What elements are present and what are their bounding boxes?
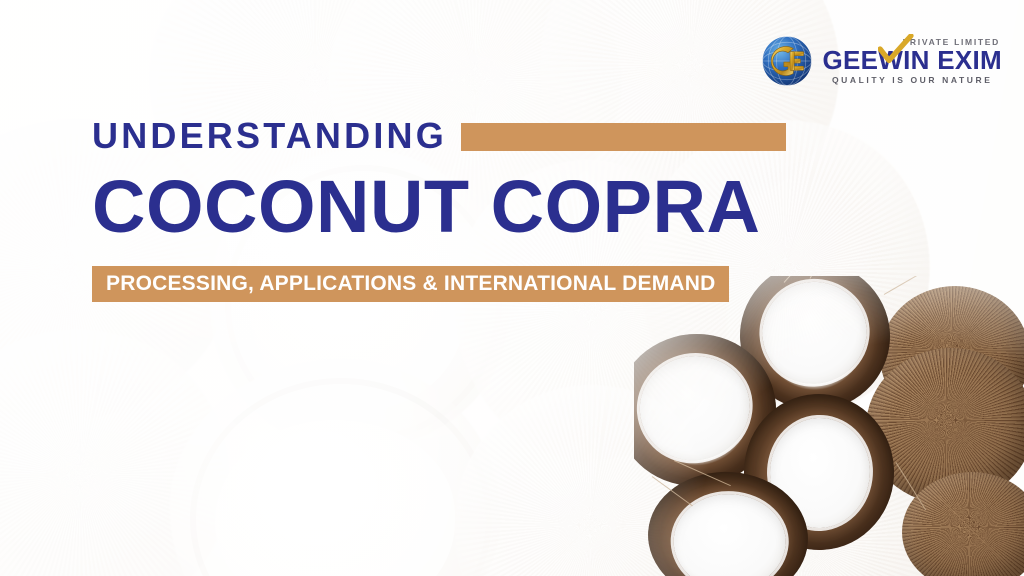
company-logo[interactable]: PRIVATE LIMITED GEEWIN EXIM QUALITY IS O… — [761, 35, 1002, 87]
logo-tagline-bottom: QUALITY IS OUR NATURE — [822, 76, 1002, 85]
logo-company-name-text: GEEWIN EXIM — [822, 45, 1002, 75]
foreground-coconut-cluster — [634, 276, 1024, 576]
eyebrow-accent-bar — [461, 123, 786, 151]
subtitle-bar: PROCESSING, APPLICATIONS & INTERNATIONAL… — [92, 266, 729, 302]
banner-slide: PRIVATE LIMITED GEEWIN EXIM QUALITY IS O… — [0, 0, 1024, 576]
logo-text-block: PRIVATE LIMITED GEEWIN EXIM QUALITY IS O… — [822, 38, 1002, 85]
subtitle-text: PROCESSING, APPLICATIONS & INTERNATIONAL… — [106, 273, 715, 294]
geewin-globe-monogram-icon — [761, 35, 813, 87]
eyebrow-text: UNDERSTANDING — [92, 118, 447, 154]
page-title: COCONUT COPRA — [92, 170, 822, 244]
headline-block: UNDERSTANDING COCONUT COPRA PROCESSING, … — [92, 118, 822, 302]
logo-company-name: GEEWIN EXIM — [822, 47, 1002, 73]
eyebrow-row: UNDERSTANDING — [92, 118, 822, 154]
